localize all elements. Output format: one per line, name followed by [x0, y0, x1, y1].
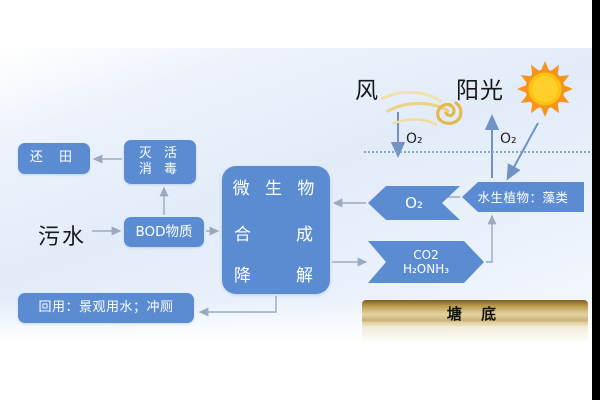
sun-icon [516, 60, 574, 118]
pond-bottom-label: 塘 底 [447, 303, 503, 324]
chevron-co2-line2: H₂ONH₃ [403, 262, 449, 276]
node-reuse-label: 回用：景观用水；冲厕 [38, 300, 173, 316]
node-inactivation-line1: 灭 活 [139, 146, 181, 162]
pond-bottom-glow [362, 322, 588, 344]
node-inactivation-disinfection[interactable]: 灭 活 消 毒 [124, 140, 196, 184]
chevron-co2-line1: CO2 [403, 248, 449, 262]
wind-swirl-icon [378, 83, 470, 133]
label-sewage: 污水 [38, 219, 86, 251]
core-label-synthesis-left: 合 [234, 220, 256, 245]
water-surface-line [364, 151, 590, 153]
label-wind: 风 [355, 71, 378, 105]
core-label-synthesis-right: 成 [296, 220, 318, 245]
chevron-aquatic-plants[interactable]: 水生植物：藻类 [462, 182, 584, 212]
diagram-canvas: 还 田 灭 活 消 毒 BOD物质 回用：景观用水；冲厕 污水 微 生 物 合 … [0, 0, 600, 400]
node-return-to-field[interactable]: 还 田 [18, 143, 90, 174]
core-label-microorganism: 微 生 物 [222, 174, 330, 199]
node-bod-substance[interactable]: BOD物质 [124, 217, 204, 247]
right-edge-black-bar [592, 0, 600, 400]
node-microorganism[interactable]: 微 生 物 合 成 降 解 [222, 166, 330, 294]
chevron-aquatic-plants-label: 水生植物：藻类 [477, 190, 568, 205]
node-inactivation-line2: 消 毒 [139, 162, 181, 178]
core-label-degradation-left: 降 [234, 261, 256, 286]
chevron-oxygen-label: O₂ [405, 194, 423, 212]
core-label-degradation-right: 解 [296, 261, 318, 286]
label-o2-upward: O₂ [500, 131, 517, 147]
node-return-to-field-label: 还 田 [30, 150, 78, 166]
bottom-white-margin [0, 346, 600, 400]
node-reuse[interactable]: 回用：景观用水；冲厕 [18, 293, 194, 323]
node-bod-label: BOD物质 [135, 224, 192, 241]
label-o2-downward: O₂ [406, 131, 423, 147]
